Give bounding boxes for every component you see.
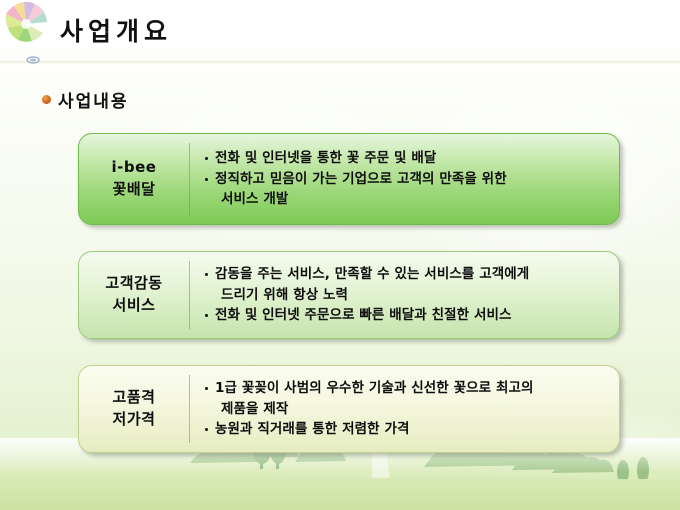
- content-box-3[interactable]: 고품격 저가격 1급 꽃꽂이 사범의 우수한 기술과 신선한 꽃으로 최고의 제…: [78, 365, 620, 453]
- content-box-2-label-line-1: 고객감동: [105, 273, 162, 295]
- page-title: 사업개요: [60, 12, 172, 48]
- content-box-1-line-2: 정직하고 믿음이 가는 기업으로 고객의 만족을 위한: [205, 169, 605, 190]
- content-box-1-line-1: 전화 및 인터넷을 통한 꽃 주문 및 배달: [205, 148, 605, 169]
- section-bullet-icon: [42, 95, 51, 104]
- content-box-3-line-3: 농원과 직거래를 통한 저렴한 가격: [205, 419, 605, 440]
- content-box-1-body: 전화 및 인터넷을 통한 꽃 주문 및 배달 정직하고 믿음이 가는 기업으로 …: [190, 134, 619, 224]
- content-box-2-label-line-2: 서비스: [113, 295, 156, 317]
- section-heading: 사업내용: [42, 87, 129, 112]
- content-box-3-label: 고품격 저가격: [79, 366, 189, 452]
- i-bee-pinwheel-logo: [2, 0, 50, 48]
- content-box-1-line-3: 서비스 개발: [205, 189, 605, 210]
- content-box-2-body: 감동을 주는 서비스, 만족할 수 있는 서비스를 고객에게 드리기 위해 항상…: [190, 252, 619, 338]
- content-box-2-line-2: 드리기 위해 항상 노력: [205, 285, 605, 306]
- content-box-1-label: i-bee 꽃배달: [79, 134, 189, 224]
- content-box-3-label-line-2: 저가격: [113, 409, 156, 431]
- content-box-2[interactable]: 고객감동 서비스 감동을 주는 서비스, 만족할 수 있는 서비스를 고객에게 …: [78, 251, 620, 339]
- content-box-3-line-1: 1급 꽃꽂이 사범의 우수한 기술과 신선한 꽃으로 최고의: [205, 378, 605, 399]
- content-box-3-label-line-1: 고품격: [113, 387, 156, 409]
- content-box-3-body: 1급 꽃꽂이 사범의 우수한 기술과 신선한 꽃으로 최고의 제품을 제작 농원…: [190, 366, 619, 452]
- content-box-1-label-line-2: 꽃배달: [113, 179, 156, 201]
- content-box-2-line-1: 감동을 주는 서비스, 만족할 수 있는 서비스를 고객에게: [205, 264, 605, 285]
- content-box-2-line-3: 전화 및 인터넷 주문으로 빠른 배달과 친절한 서비스: [205, 305, 605, 326]
- content-box-2-label: 고객감동 서비스: [79, 252, 189, 338]
- content-box-3-line-2: 제품을 제작: [205, 399, 605, 420]
- presentation-slide: 사업개요 사업내용 i-bee 꽃배달 전화 및 인터넷을 통한 꽃 주문 및 …: [0, 0, 680, 510]
- content-box-1[interactable]: i-bee 꽃배달 전화 및 인터넷을 통한 꽃 주문 및 배달 정직하고 믿음…: [78, 133, 620, 225]
- section-heading-label: 사업내용: [58, 87, 129, 112]
- logo-accent-dot-icon: [26, 56, 40, 64]
- content-box-1-label-line-1: i-bee: [112, 157, 157, 179]
